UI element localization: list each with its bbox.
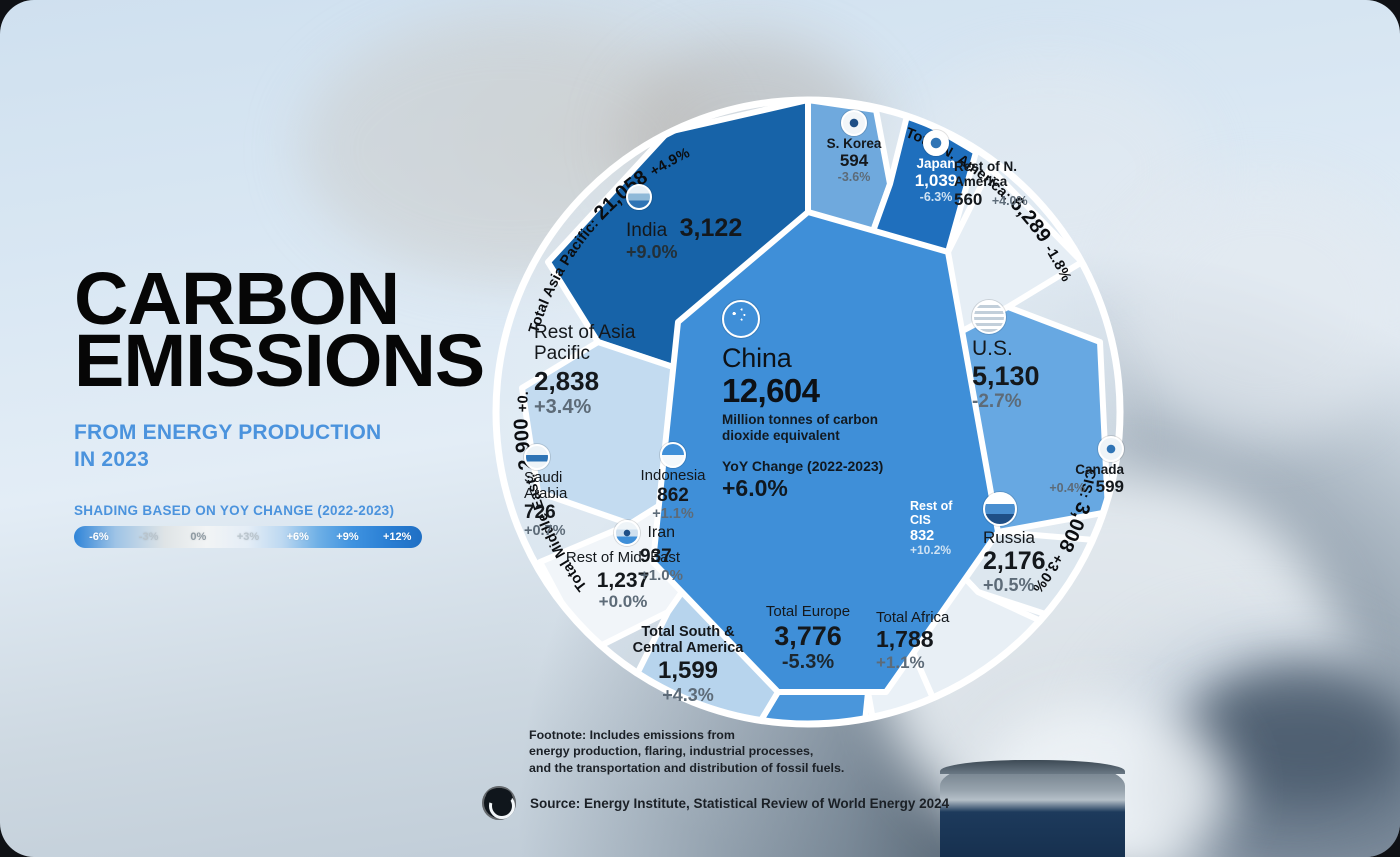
india-flag-icon [626, 184, 652, 210]
legend-tick-3: +3% [223, 531, 273, 543]
iran-flag-icon [614, 520, 640, 546]
china-unit-line-1: Million tonnes of carbon [722, 412, 952, 428]
label-saudi: Saudi Arabia 726 +0.7% [524, 444, 608, 539]
india-value: 3,122 [680, 214, 743, 242]
label-europe: Total Europe 3,776 -5.3% [743, 604, 873, 674]
rest-mideast-change: +0.0% [564, 592, 682, 612]
page-subtitle: FROM ENERGY PRODUCTION IN 2023 [74, 420, 494, 473]
smoke-cloud [1120, 180, 1400, 440]
africa-change: +1.1% [876, 653, 996, 673]
label-canada: Canada +0.4% 599 [994, 436, 1124, 497]
indonesia-flag-icon [660, 442, 686, 468]
russia-flag-icon [983, 492, 1017, 526]
south-america-change: +4.3% [618, 685, 758, 706]
south-america-value: 1,599 [618, 658, 758, 685]
rest-asia-name: Rest of Asia Pacific [534, 322, 684, 365]
skorea-change: -3.6% [811, 170, 897, 184]
china-flag-icon [722, 300, 760, 338]
label-rest-asia: Rest of Asia Pacific 2,838 +3.4% [534, 322, 684, 419]
saudi-change: +0.7% [524, 523, 608, 540]
india-name: India [626, 220, 667, 241]
legend-tick-6: +12% [372, 531, 422, 543]
legend-tick-2: 0% [173, 531, 223, 543]
canada-flag-icon [1098, 436, 1124, 462]
publisher-logo-icon [482, 786, 516, 820]
skorea-name: S. Korea [811, 136, 897, 151]
iran-change: +1.0% [640, 567, 706, 584]
europe-value: 3,776 [743, 621, 873, 651]
source-text: Source: Energy Institute, Statistical Re… [530, 796, 949, 811]
footnote-line-1: Includes emissions from [586, 728, 735, 742]
rest-namerica-name: Rest of N. America [954, 160, 1050, 189]
saudi-arabia-flag-icon [524, 444, 550, 470]
russia-value: 2,176 [983, 547, 1103, 575]
legend-gradient-bar: -6% -3% 0% +3% +6% +9% +12% [74, 526, 422, 548]
legend-tick-0: -6% [74, 531, 124, 543]
legend-tick-1: -3% [124, 531, 174, 543]
source-value: Energy Institute, Statistical Review of … [580, 796, 949, 811]
title-line-2: EMISSIONS [74, 330, 502, 392]
label-south-america: Total South & Central America 1,599 +4.3… [618, 624, 758, 706]
china-unit-line-2: dioxide equivalent [722, 428, 952, 444]
label-rest-namerica: Rest of N. America 560 +4.0% [954, 160, 1050, 210]
label-indonesia: Indonesia 862 +1.1% [620, 442, 726, 523]
cooling-tower [940, 760, 1125, 857]
label-skorea: S. Korea 594 -3.6% [811, 110, 897, 185]
footnote-line-3: and the transportation and distribution … [529, 760, 949, 776]
subtitle-line-2: IN 2023 [74, 447, 494, 473]
rest-asia-value: 2,838 [534, 367, 684, 396]
africa-name: Total Africa [876, 610, 996, 627]
canada-name: Canada [994, 462, 1124, 477]
india-change: +9.0% [626, 242, 826, 263]
skorea-value: 594 [811, 151, 897, 170]
us-value: 5,130 [972, 361, 1092, 391]
russia-name: Russia [983, 528, 1103, 547]
china-yoy-value: +6.0% [722, 475, 952, 502]
rest-cis-value: 832 [910, 528, 972, 544]
page-title: CARBON EMISSIONS [74, 268, 494, 392]
footnote-label: Footnote: [529, 728, 586, 742]
saudi-name: Saudi Arabia [524, 470, 608, 502]
south-korea-flag-icon [841, 110, 867, 136]
south-america-name: Total South & Central America [618, 624, 758, 656]
japan-flag-icon [923, 130, 949, 156]
rest-namerica-change: +4.0% [992, 194, 1028, 208]
us-flag-icon [972, 300, 1006, 334]
indonesia-change: +1.1% [620, 506, 726, 523]
subtitle-line-1: FROM ENERGY PRODUCTION [74, 420, 494, 446]
source-label: Source: [530, 796, 580, 811]
rest-cis-change: +10.2% [910, 544, 972, 558]
label-rest-cis: Rest of CIS 832 +10.2% [910, 500, 972, 558]
legend-title: SHADING BASED ON YOY CHANGE (2022-2023) [74, 503, 494, 518]
label-iran: Iran 937 +1.0% [614, 520, 706, 585]
center-china-block: China 12,604 Million tonnes of carbon di… [722, 300, 952, 502]
china-value: 12,604 [722, 374, 952, 409]
iran-name: Iran [647, 524, 675, 541]
rest-asia-change: +3.4% [534, 396, 684, 419]
footnote: Footnote: Includes emissions from energy… [529, 727, 949, 776]
legend-tick-4: +6% [273, 531, 323, 543]
rest-namerica-value: 560 [954, 190, 982, 209]
europe-name: Total Europe [743, 604, 873, 621]
infographic-root: CARBON EMISSIONS FROM ENERGY PRODUCTION … [0, 0, 1400, 857]
legend-tick-5: +9% [323, 531, 373, 543]
china-name: China [722, 343, 952, 374]
europe-change: -5.3% [743, 651, 873, 674]
indonesia-name: Indonesia [620, 468, 726, 485]
label-us: U.S. 5,130 -2.7% [972, 300, 1092, 413]
footnote-line-2: energy production, flaring, industrial p… [529, 743, 949, 759]
china-yoy-label: YoY Change (2022-2023) [722, 458, 952, 474]
us-change: -2.7% [972, 391, 1092, 413]
russia-change: +0.5% [983, 575, 1103, 596]
label-russia: Russia 2,176 +0.5% [983, 492, 1103, 596]
us-name: U.S. [972, 337, 1092, 361]
smoke-cloud [1140, 690, 1400, 857]
saudi-value: 726 [524, 502, 608, 523]
label-india: India 3,122 +9.0% [626, 184, 826, 263]
indonesia-value: 862 [620, 485, 726, 506]
label-africa: Total Africa 1,788 +1.1% [876, 610, 996, 672]
title-block: CARBON EMISSIONS FROM ENERGY PRODUCTION … [74, 268, 494, 548]
iran-value: 937 [640, 546, 706, 567]
smoke-cloud [1190, 660, 1400, 810]
africa-value: 1,788 [876, 627, 996, 653]
source-row: Source: Energy Institute, Statistical Re… [482, 786, 949, 820]
rest-cis-name: Rest of CIS [910, 500, 972, 528]
